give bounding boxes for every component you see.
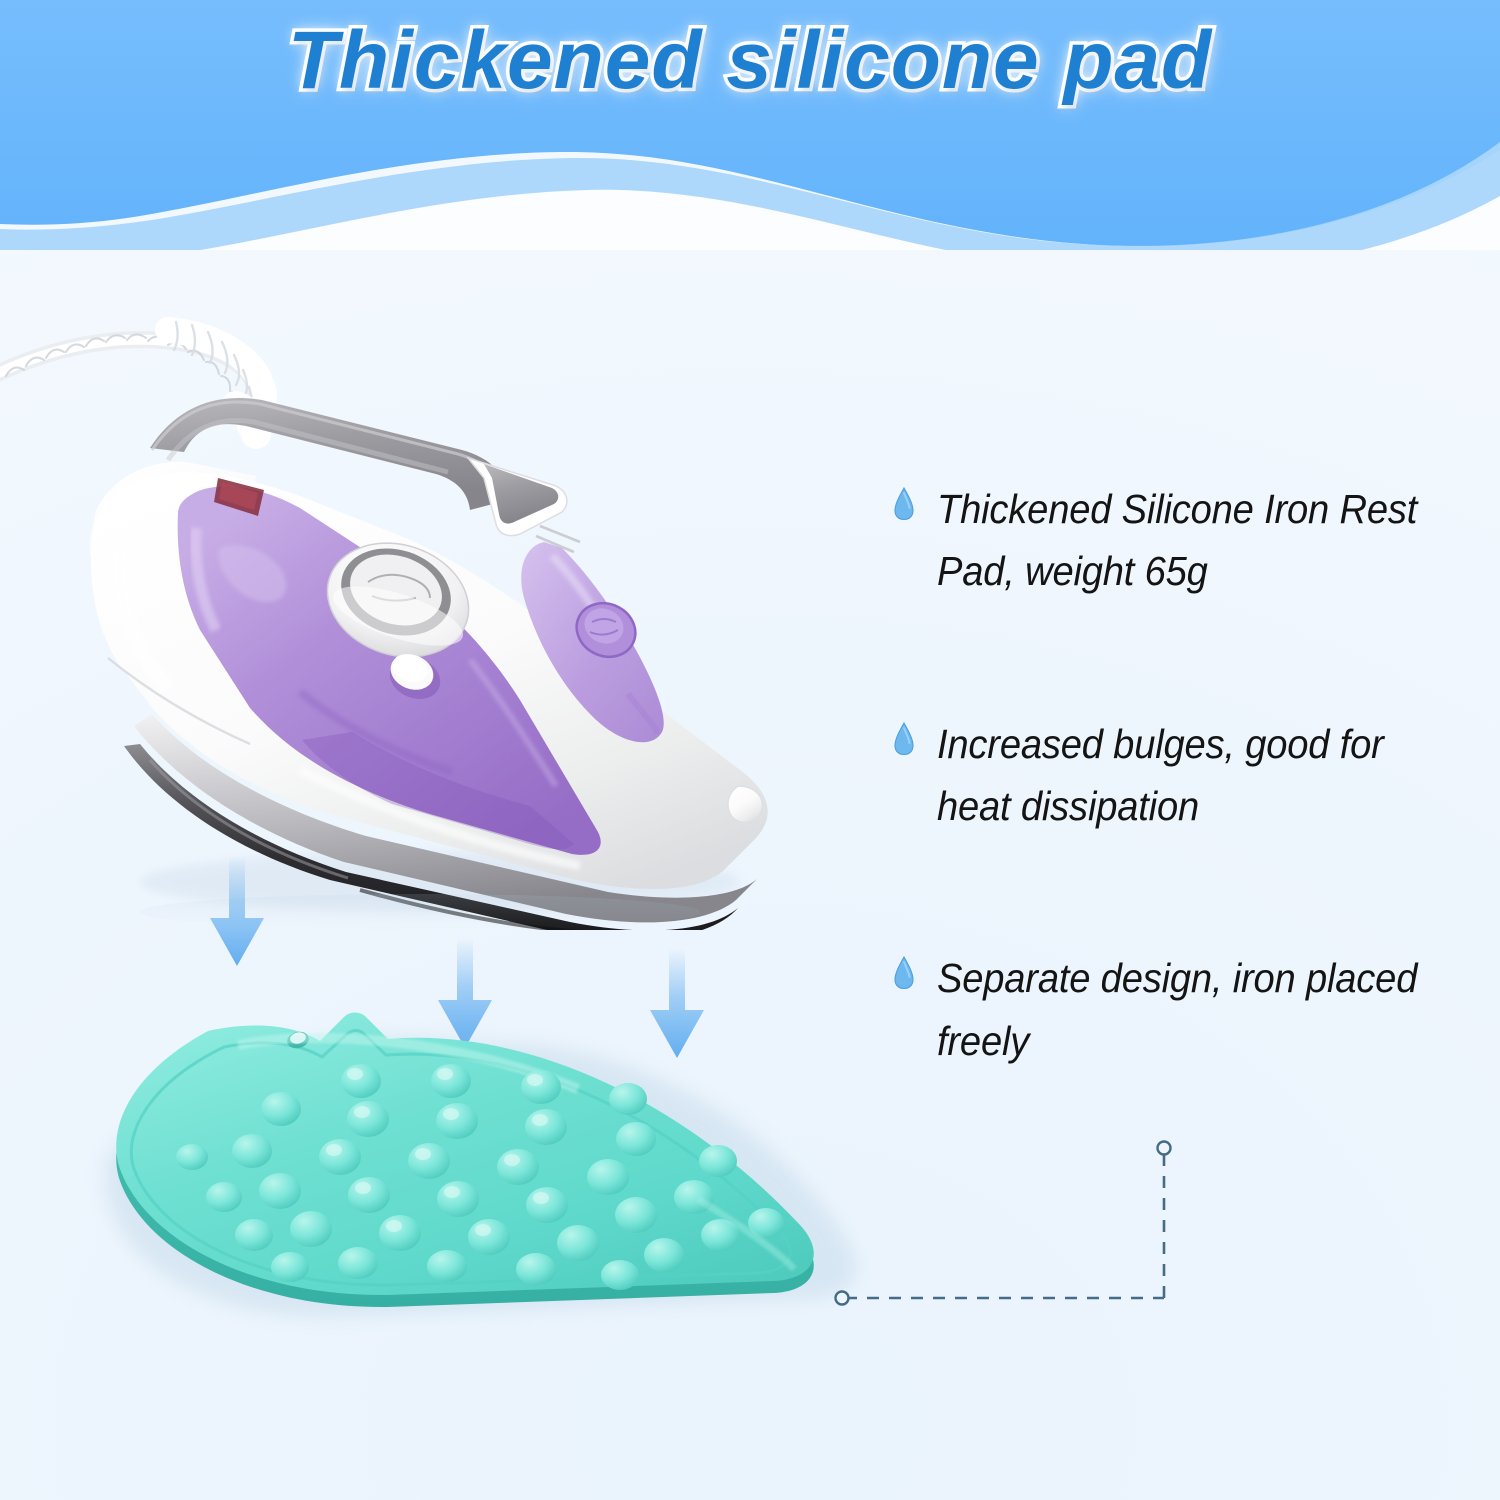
feature-item-1: Thickened Silicone Iron Rest Pad, weight… xyxy=(893,478,1483,603)
iron-illustration xyxy=(0,300,880,930)
iron-drop-icon xyxy=(893,956,915,990)
feature-item-2: Increased bulges, good for heat dissipat… xyxy=(893,713,1483,838)
iron-product-image xyxy=(0,300,880,930)
down-arrow-1 xyxy=(204,856,270,971)
silicone-pad-image xyxy=(58,985,898,1335)
feature-text-2: Increased bulges, good for heat dissipat… xyxy=(937,713,1445,838)
pad-illustration xyxy=(58,985,898,1335)
feature-text-1: Thickened Silicone Iron Rest Pad, weight… xyxy=(937,478,1445,603)
page-title: Thickened silicone pad xyxy=(0,14,1500,108)
callout-endpoint-left xyxy=(836,1292,849,1305)
iron-drop-icon xyxy=(893,722,915,756)
dimension-callout xyxy=(820,1120,1240,1320)
feature-item-3: Separate design, iron placed freely xyxy=(893,947,1483,1072)
iron-drop-icon xyxy=(893,487,915,521)
feature-list: Thickened Silicone Iron Rest Pad, weight… xyxy=(893,478,1483,1072)
callout-endpoint-top xyxy=(1158,1142,1171,1155)
infographic-canvas: Thickened silicone pad xyxy=(0,0,1500,1500)
feature-text-3: Separate design, iron placed freely xyxy=(937,947,1445,1072)
header-banner: Thickened silicone pad xyxy=(0,0,1500,250)
